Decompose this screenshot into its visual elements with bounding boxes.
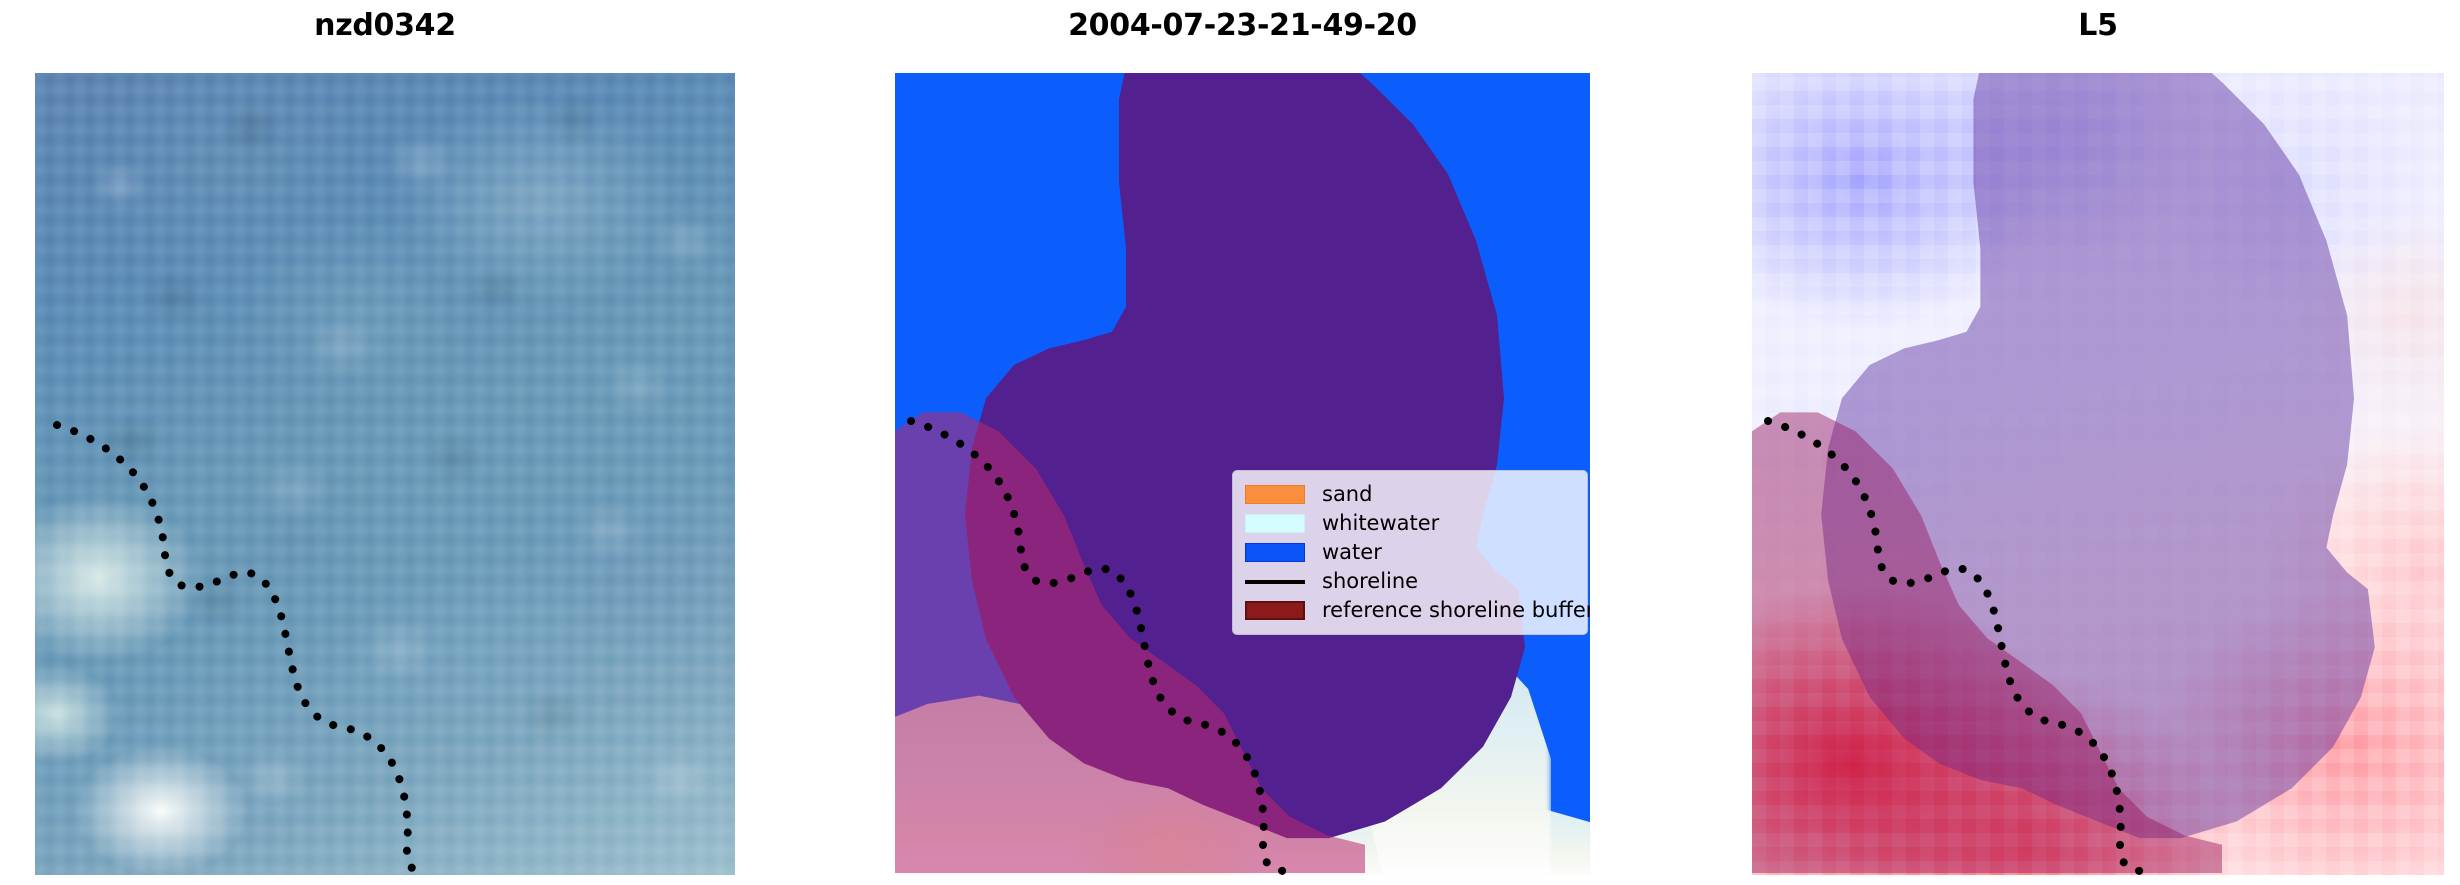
- axes-index: [1752, 73, 2444, 875]
- legend-swatch-water: [1245, 543, 1305, 562]
- legend-label-reference-shoreline-buffer: reference shoreline buffer: [1322, 600, 1590, 621]
- panel-classified-overlay[interactable]: sand whitewater water shoreline referenc…: [895, 73, 1590, 875]
- legend-item-whitewater[interactable]: whitewater: [1245, 509, 1577, 538]
- panel-spectral-index[interactable]: [1752, 73, 2444, 875]
- legend-item-shoreline[interactable]: shoreline: [1245, 567, 1577, 596]
- panel-rgb-composite[interactable]: [35, 73, 735, 875]
- panel-title-classified: 2004-07-23-21-49-20: [895, 8, 1590, 43]
- legend-item-reference-shoreline-buffer[interactable]: reference shoreline buffer: [1245, 596, 1577, 625]
- legend-swatch-whitewater: [1245, 514, 1305, 533]
- panel-title-rgb: nzd0342: [35, 8, 735, 43]
- legend-box[interactable]: sand whitewater water shoreline referenc…: [1232, 470, 1588, 635]
- shoreline-polyline: [57, 425, 427, 875]
- panel-title-index: L5: [1752, 8, 2444, 43]
- shoreline-polyline: [1768, 421, 2140, 871]
- legend-label-water: water: [1322, 542, 1382, 563]
- shoreline-overlay-rgb: [35, 73, 735, 875]
- legend-label-sand: sand: [1322, 484, 1372, 505]
- legend-swatch-reference-shoreline-buffer: [1245, 601, 1305, 620]
- legend-swatch-sand: [1245, 485, 1305, 504]
- legend-item-water[interactable]: water: [1245, 538, 1577, 567]
- legend-item-sand[interactable]: sand: [1245, 480, 1577, 509]
- legend-label-whitewater: whitewater: [1322, 513, 1439, 534]
- axes-classified: sand whitewater water shoreline referenc…: [895, 73, 1590, 875]
- figure-canvas: nzd0342 2004-07-23-21-49-20: [0, 0, 2460, 885]
- legend-label-shoreline: shoreline: [1322, 571, 1418, 592]
- shoreline-overlay-index: [1752, 73, 2444, 875]
- axes-rgb: [35, 73, 735, 875]
- legend-swatch-shoreline: [1245, 580, 1305, 584]
- shoreline-polyline: [911, 421, 1283, 871]
